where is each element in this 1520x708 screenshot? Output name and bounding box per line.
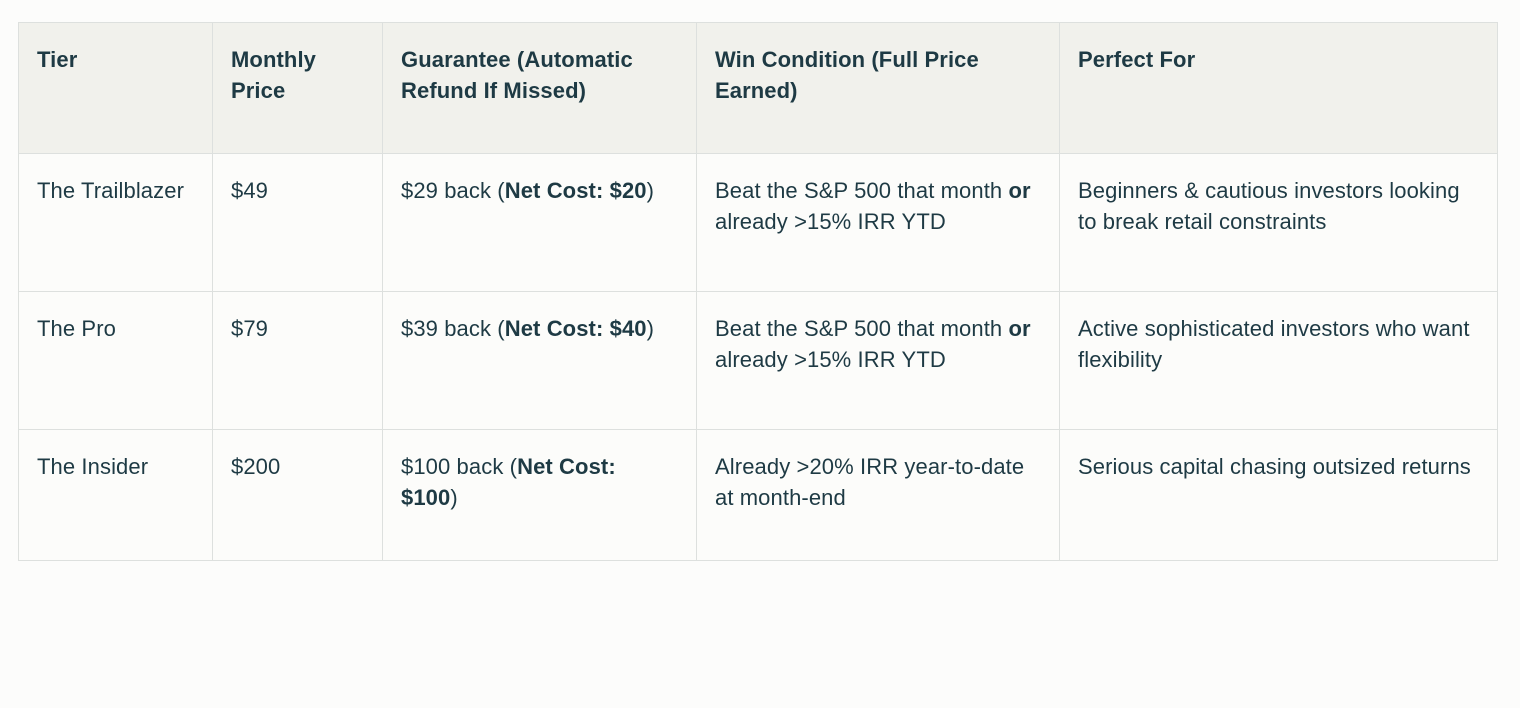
table-row: The Pro $79 $39 back (Net Cost: $40) Bea… [19,292,1498,430]
cell-guarantee: $39 back (Net Cost: $40) [383,292,697,430]
cell-price: $200 [213,430,383,561]
table-row: The Insider $200 $100 back (Net Cost: $1… [19,430,1498,561]
cell-guarantee: $29 back (Net Cost: $20) [383,154,697,292]
cell-tier: The Insider [19,430,213,561]
column-header-win: Win Condition (Full Price Earned) [697,23,1060,154]
pricing-table-container: Tier Monthly Price Guarantee (Automatic … [18,22,1497,561]
table-row: The Trailblazer $49 $29 back (Net Cost: … [19,154,1498,292]
cell-price: $49 [213,154,383,292]
table-header-row: Tier Monthly Price Guarantee (Automatic … [19,23,1498,154]
cell-tier: The Trailblazer [19,154,213,292]
cell-win-condition: Already >20% IRR year-to-date at month-e… [697,430,1060,561]
column-header-guarantee: Guarantee (Automatic Refund If Missed) [383,23,697,154]
cell-win-condition: Beat the S&P 500 that month or already >… [697,154,1060,292]
cell-perfect-for: Beginners & cautious investors looking t… [1060,154,1498,292]
table-body: The Trailblazer $49 $29 back (Net Cost: … [19,154,1498,561]
cell-price: $79 [213,292,383,430]
cell-guarantee: $100 back (Net Cost: $100) [383,430,697,561]
cell-perfect-for: Active sophisticated investors who want … [1060,292,1498,430]
cell-win-condition: Beat the S&P 500 that month or already >… [697,292,1060,430]
column-header-tier: Tier [19,23,213,154]
column-header-price: Monthly Price [213,23,383,154]
cell-tier: The Pro [19,292,213,430]
column-header-perfect: Perfect For [1060,23,1498,154]
cell-perfect-for: Serious capital chasing outsized returns [1060,430,1498,561]
table-header: Tier Monthly Price Guarantee (Automatic … [19,23,1498,154]
pricing-tier-comparison-table: Tier Monthly Price Guarantee (Automatic … [18,22,1498,561]
